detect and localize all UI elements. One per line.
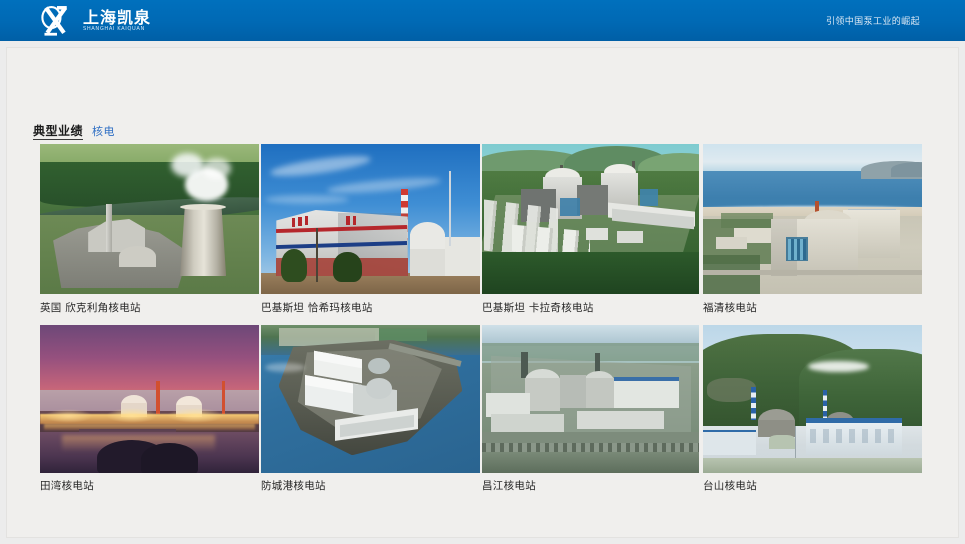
project-gallery: 英国 欣克利角核电站 巴基斯坦 恰希玛核电站 bbox=[33, 144, 933, 493]
coastal-cg-plant-photo[interactable] bbox=[703, 144, 922, 294]
gallery-item-caption: 福清核电站 bbox=[703, 301, 923, 315]
gallery-item-caption: 昌江核电站 bbox=[482, 479, 702, 493]
gallery-item-caption: 防城港核电站 bbox=[261, 479, 481, 493]
page-title: 典型业绩 bbox=[33, 124, 83, 140]
turbine-hall-blue-sky-photo[interactable] bbox=[261, 144, 480, 294]
gallery-row: 英国 欣克利角核电站 巴基斯坦 恰希玛核电站 bbox=[33, 144, 933, 315]
gallery-item[interactable]: 田湾核电站 bbox=[40, 325, 260, 493]
gallery-item[interactable]: 英国 欣克利角核电站 bbox=[40, 144, 260, 315]
gallery-item-caption: 英国 欣克利角核电站 bbox=[40, 301, 260, 315]
page-body: 典型业绩 核电 英国 欣克利角核电站 bbox=[0, 41, 965, 544]
gallery-item-caption: 田湾核电站 bbox=[40, 479, 260, 493]
gallery-item[interactable]: 福清核电站 bbox=[703, 144, 923, 315]
header-tagline: 引领中国泵工业的崛起 bbox=[826, 0, 920, 41]
gallery-row: 田湾核电站 防城港核电站 bbox=[33, 325, 933, 493]
section-heading: 典型业绩 核电 bbox=[33, 124, 115, 140]
aerial-coastal-plant-photo[interactable] bbox=[482, 325, 699, 473]
kaiquan-logo-icon bbox=[36, 5, 78, 37]
gallery-item-caption: 巴基斯坦 恰希玛核电站 bbox=[261, 301, 481, 315]
gallery-item[interactable]: 巴基斯坦 恰希玛核电站 bbox=[261, 144, 481, 315]
gallery-item[interactable]: 昌江核电站 bbox=[482, 325, 702, 493]
image-watermark bbox=[721, 261, 905, 282]
gallery-item[interactable]: 巴基斯坦 卡拉奇核电站 bbox=[482, 144, 702, 315]
brand-name-cn: 上海凯泉 bbox=[83, 9, 151, 26]
gallery-item-caption: 台山核电站 bbox=[703, 479, 923, 493]
brand-logo[interactable]: 上海凯泉 SHANGHAI KAIQUAN bbox=[36, 5, 151, 37]
sunset-illuminated-plant-photo[interactable] bbox=[40, 325, 259, 473]
gallery-item-caption: 巴基斯坦 卡拉奇核电站 bbox=[482, 301, 702, 315]
section-category-label[interactable]: 核电 bbox=[92, 125, 115, 139]
aerial-peninsula-plant-photo[interactable] bbox=[261, 325, 480, 473]
cg-twin-dome-plant-photo[interactable] bbox=[482, 144, 699, 294]
site-header: 上海凯泉 SHANGHAI KAIQUAN 引领中国泵工业的崛起 bbox=[0, 0, 965, 41]
gallery-item[interactable]: 防城港核电站 bbox=[261, 325, 481, 493]
brand-logo-text: 上海凯泉 SHANGHAI KAIQUAN bbox=[83, 9, 151, 33]
mountain-backdrop-plant-photo[interactable] bbox=[703, 325, 922, 473]
brand-name-en: SHANGHAI KAIQUAN bbox=[83, 26, 152, 33]
gallery-item[interactable]: 台山核电站 bbox=[703, 325, 923, 493]
aerial-cooling-tower-photo[interactable] bbox=[40, 144, 259, 294]
